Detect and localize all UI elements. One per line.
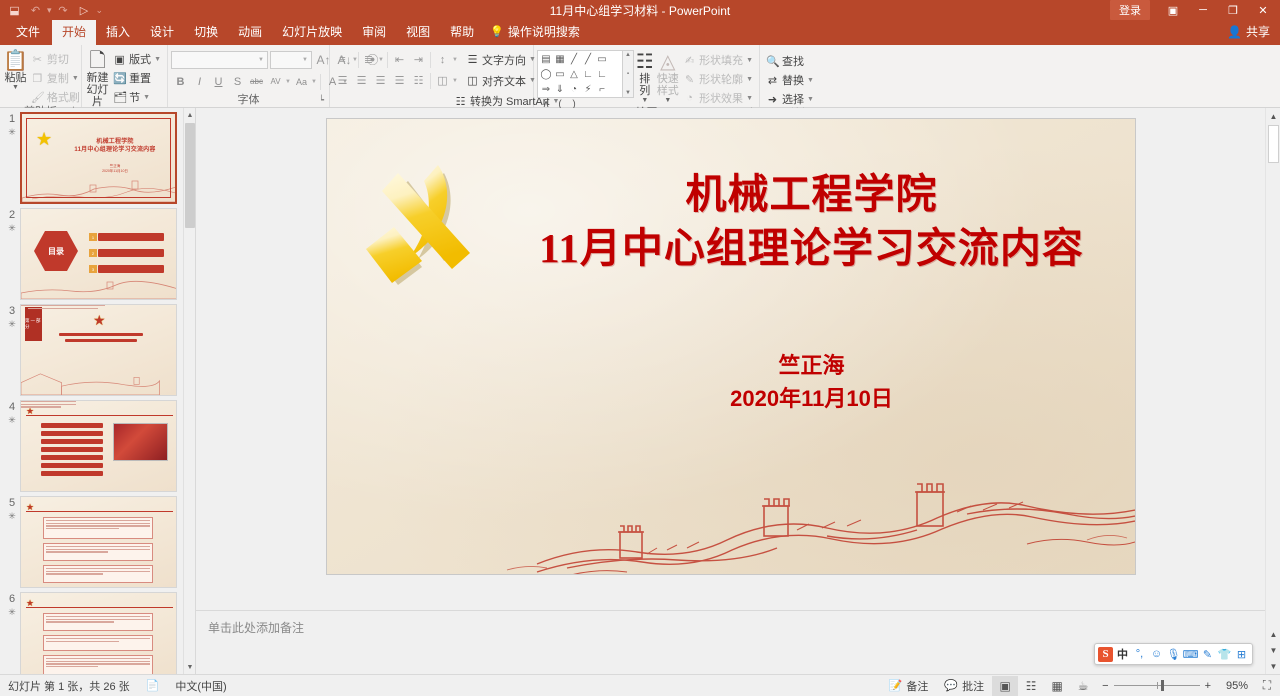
section-sub-line-1	[21, 305, 105, 306]
text-direction-label: 文字方向	[482, 52, 526, 68]
thumbnail-index-2: 2 ✳	[4, 208, 20, 300]
thumbnail-number-6: 6	[4, 593, 20, 606]
great-wall-art-icon	[22, 172, 177, 202]
minimize-icon[interactable]: ─	[1188, 0, 1218, 20]
cut-button[interactable]: ✂ 剪切	[28, 50, 83, 68]
numbering-icon[interactable]: ≣	[359, 50, 378, 69]
text-box-1	[43, 613, 153, 631]
font-size-input[interactable]: ▼	[270, 51, 312, 69]
thumbnail-title-1: 机械工程学院 11月中心组理论学习交流内容	[56, 138, 174, 154]
thumbnail-row-6[interactable]: 6 ✳ ★	[0, 588, 195, 674]
thumbnail-number-1: 1	[4, 113, 20, 126]
bold-icon[interactable]: B	[171, 72, 190, 91]
text-box-3	[43, 565, 153, 583]
align-left-icon[interactable]: ☰	[333, 71, 352, 90]
paste-label: 粘贴	[4, 72, 26, 84]
document-title: 11月中心组学习材料 - PowerPoint	[0, 2, 1280, 19]
sogou-ime-toolbar[interactable]: S 中 °, ☺ 🎙 ⌨ ✎ 👕 ⊞	[1094, 643, 1253, 665]
shape-fill-caret-icon[interactable]: ▼	[746, 57, 753, 64]
cut-label: 剪切	[47, 51, 69, 67]
font-group-label: 字体 ┕	[171, 94, 326, 107]
zoom-value[interactable]: 95%	[1216, 680, 1248, 692]
undo-icon[interactable]: ↶	[26, 1, 45, 19]
caption-line-3	[21, 406, 61, 407]
columns-caret-icon[interactable]: ▼	[452, 78, 459, 84]
toc-bar-2	[98, 249, 164, 257]
replace-button[interactable]: ⇄ 替换 ▼	[763, 71, 817, 89]
share-label: 共享	[1246, 23, 1270, 40]
tell-me-placeholder: 操作说明搜索	[508, 23, 580, 40]
select-label: 选择	[782, 91, 804, 107]
shape-curve-icon[interactable]: ⌐	[595, 82, 609, 97]
ribbon-group-drawing: ▤ ▦ ╱ ╱ ▭ ◯ ▭ △ ∟ ∟ ⇒ ⇓ ◔ ⚡ ⌐ ∧ (	[534, 45, 760, 107]
section-title-line-2	[65, 339, 137, 342]
thumbnail-animation-star-6: ✳	[4, 606, 20, 619]
party-emblem-icon: ★	[36, 132, 52, 146]
slide-thumbnail-3[interactable]: 第一部分 ★	[20, 304, 177, 396]
sogou-logo-icon[interactable]: S	[1098, 647, 1113, 662]
customize-qat-icon[interactable]: ⌄	[96, 5, 104, 16]
slide-title-textbox[interactable]: 机械工程学院 11月中心组理论学习交流内容	[502, 167, 1122, 275]
notes-placeholder[interactable]: 单击此处添加备注	[196, 611, 1265, 636]
thumbnail-animation-star-2: ✳	[4, 222, 20, 235]
great-wall-illustration	[327, 444, 1135, 574]
tab-slideshow[interactable]: 幻灯片放映	[272, 20, 352, 45]
zoom-slider[interactable]: − + 95%	[1096, 680, 1254, 692]
thumbnail-scrollbar[interactable]: ▲ ▼	[183, 108, 195, 674]
slide-thumbnail-5[interactable]: ★	[20, 496, 177, 588]
party-emblem-icon: ★	[93, 313, 106, 327]
thumbnail-row-4[interactable]: 4 ✳ ★	[0, 396, 195, 492]
comments-label: 批注	[962, 678, 984, 694]
zoom-out-button[interactable]: −	[1102, 680, 1108, 692]
zoom-handle[interactable]	[1161, 680, 1164, 691]
text-shadow-icon[interactable]: S	[228, 72, 247, 91]
section-title-line-1	[59, 333, 143, 336]
reset-button[interactable]: 🔄 重置	[110, 69, 164, 87]
toc-number-2: 2	[89, 249, 97, 257]
reset-label: 重置	[129, 70, 151, 86]
list-item-2	[41, 431, 103, 436]
fit-slide-icon[interactable]: ⛶	[1254, 676, 1280, 696]
tab-design[interactable]: 设计	[140, 20, 184, 45]
arrange-icon: ☷	[636, 51, 654, 73]
slide-thumbnail-6[interactable]: ★	[20, 592, 177, 674]
thumbnail-index-5: 5 ✳	[4, 496, 20, 588]
copy-label: 复制	[47, 70, 69, 86]
align-center-icon[interactable]: ☰	[352, 71, 371, 90]
window-controls: 登录 ▣ ─ ❐ ✕	[1110, 0, 1280, 20]
ribbon-display-options-icon[interactable]: ▣	[1158, 0, 1188, 20]
share-button[interactable]: 👤 共享	[1227, 20, 1280, 45]
copy-icon: ❐	[31, 72, 44, 85]
section-label: 节	[129, 89, 140, 105]
tab-help[interactable]: 帮助	[440, 20, 484, 45]
zoom-in-button[interactable]: +	[1205, 680, 1211, 692]
toc-number-1: 1	[89, 233, 97, 241]
arrange-label: 排列	[634, 73, 656, 97]
underline-icon[interactable]: U	[209, 72, 228, 91]
status-bar: 幻灯片 第 1 张，共 26 张 📄 中文(中国) 📝 备注 💬 批注 ▣ ☷ …	[0, 674, 1280, 696]
quick-access-toolbar: ⬓ ↶ ▾ ↷ ▷ ⌄	[0, 1, 103, 19]
format-painter-icon: 🖌	[31, 91, 44, 104]
text-box-2	[43, 543, 153, 561]
slide-author[interactable]: 竺正海	[502, 351, 1122, 381]
thumbnail-number-3: 3	[4, 305, 20, 318]
tab-file[interactable]: 文件	[4, 20, 52, 45]
format-painter-label: 格式刷	[47, 89, 80, 105]
language-text: 中文(中国)	[175, 678, 226, 694]
shape-fill-label: 形状填充	[699, 52, 743, 68]
slide-count-indicator[interactable]: 幻灯片 第 1 张，共 26 张	[0, 678, 138, 694]
ime-toolbox-icon[interactable]: ⊞	[1234, 646, 1249, 662]
paste-icon: 📋	[3, 50, 28, 72]
new-slide-label-1: 新建	[87, 72, 109, 84]
layout-icon: ▣	[113, 53, 126, 66]
great-wall-art-icon	[21, 269, 177, 299]
list-item-1	[41, 423, 103, 428]
change-case-icon[interactable]: Aa	[292, 72, 311, 91]
arrange-caret-icon[interactable]: ▼	[641, 97, 648, 104]
bullets-caret-icon[interactable]: ▼	[352, 57, 359, 63]
comment-icon: 💬	[944, 679, 958, 692]
shape-fill-icon: ✍	[683, 54, 696, 67]
shape-effects-caret-icon[interactable]: ▼	[746, 95, 753, 102]
thumbnail-scroll-up-icon[interactable]: ▲	[184, 108, 196, 122]
italic-icon[interactable]: I	[190, 72, 209, 91]
person-share-icon: 👤	[1227, 25, 1242, 39]
tab-review[interactable]: 审阅	[352, 20, 396, 45]
thumbnail-animation-star-5: ✳	[4, 510, 20, 523]
paste-dropdown-caret-icon[interactable]: ▼	[12, 84, 19, 91]
line-spacing-icon[interactable]: ↕	[433, 50, 452, 69]
list-item-3	[41, 439, 103, 444]
scroll-down-icon[interactable]: ▼	[1266, 658, 1280, 674]
thumbnail-animation-star-1: ✳	[4, 126, 20, 139]
slide-canvas[interactable]: 机械工程学院 11月中心组理论学习交流内容 竺正海 2020年11月10日	[327, 119, 1135, 574]
shape-outline-button[interactable]: ✎ 形状轮廓 ▼	[680, 70, 756, 88]
select-icon: ➜	[766, 93, 779, 106]
thumbnail-scroll-thumb[interactable]	[185, 123, 195, 228]
ribbon: 📋 粘贴 ▼ ✂ 剪切 ❐ 复制 ▼ 🖌 格式刷	[0, 45, 1280, 108]
thumbnail-animation-star-4: ✳	[4, 414, 20, 427]
thumbnail-animation-star-3: ✳	[4, 318, 20, 331]
font-dialog-launcher-icon[interactable]: ┕	[319, 94, 324, 107]
font-group-text: 字体	[238, 94, 260, 106]
shapes-more-icon[interactable]: ▼	[625, 90, 631, 96]
shape-effects-button[interactable]: ◔ 形状效果 ▼	[680, 89, 756, 107]
thumbnail-row-5[interactable]: 5 ✳ ★	[0, 492, 195, 588]
layout-button[interactable]: ▣ 版式 ▼	[110, 50, 164, 68]
justify-icon[interactable]: ☰	[390, 71, 409, 90]
lightbulb-icon: 💡	[490, 25, 504, 38]
distribute-icon[interactable]: ☷	[409, 71, 428, 90]
quick-styles-button[interactable]: ◬ 快速样式 ▼	[656, 50, 681, 105]
ime-soft-keyboard-icon[interactable]: ⌨	[1183, 646, 1198, 662]
shape-effects-icon: ◔	[683, 92, 696, 104]
scroll-up-icon[interactable]: ▲	[1266, 108, 1280, 124]
thumbnail-row-2[interactable]: 2 ✳ 目录 1 2 3	[0, 204, 195, 300]
arrange-button[interactable]: ☷ 排列 ▼	[634, 50, 656, 105]
increase-indent-icon[interactable]: ⇥	[409, 50, 428, 69]
paste-button[interactable]: 📋 粘贴 ▼	[3, 49, 28, 92]
align-right-icon[interactable]: ☰	[371, 71, 390, 90]
zoom-midpoint-tick	[1157, 682, 1158, 689]
slide-sorter-button[interactable]: ☷	[1018, 676, 1044, 696]
ribbon-group-editing: 🔍 查找 ⇄ 替换 ▼ ➜ 选择 ▼ 编辑	[760, 45, 842, 107]
start-slideshow-icon[interactable]: ▷	[75, 1, 94, 19]
thumbnail-index-4: 4 ✳	[4, 400, 20, 492]
line-spacing-caret-icon[interactable]: ▼	[452, 57, 459, 63]
find-button[interactable]: 🔍 查找	[763, 52, 817, 70]
text-box-3	[43, 655, 153, 674]
select-button[interactable]: ➜ 选择 ▼	[763, 90, 817, 108]
replace-icon: ⇄	[766, 74, 779, 87]
party-emblem-hammer-sickle-icon	[352, 157, 492, 297]
ribbon-group-font: ▼ ▼ A↑ A↓ ⦿ B I U S abc AV ▼ Aa ▼	[168, 45, 330, 107]
align-text-label: 对齐文本	[482, 73, 526, 89]
ime-handwriting-icon[interactable]: ✎	[1200, 646, 1215, 662]
slide-title-line-2: 11月中心组理论学习交流内容	[502, 221, 1122, 275]
header-rule	[26, 607, 173, 608]
shape-line-icon[interactable]: ╱	[567, 52, 581, 67]
notes-icon: 📝	[889, 679, 903, 692]
slide-edit-pane: 机械工程学院 11月中心组理论学习交流内容 竺正海 2020年11月10日	[196, 108, 1265, 674]
search-icon: 🔍	[766, 55, 779, 68]
shape-effects-label: 形状效果	[699, 90, 743, 106]
section-button[interactable]: 🗂 节 ▼	[110, 88, 164, 106]
new-slide-icon: 🗋	[89, 50, 105, 72]
slide-title-line-1: 机械工程学院	[502, 167, 1122, 221]
slide-thumbnail-pane[interactable]: 1 ✳ ★ 机械工程学院 11月中心组理论学习交流内容 竺正海 2020年11月…	[0, 108, 196, 674]
copy-button[interactable]: ❐ 复制 ▼	[28, 69, 83, 87]
scroll-bottom-controls: ▲ ▼ ▼	[1266, 626, 1280, 674]
language-indicator[interactable]: 中文(中国)	[167, 678, 234, 694]
shape-oval-icon[interactable]: ◯	[539, 67, 553, 82]
tab-view[interactable]: 视图	[396, 20, 440, 45]
zoom-track[interactable]	[1114, 685, 1200, 686]
normal-view-button[interactable]: ▣	[992, 676, 1018, 696]
shape-right-arrow-icon[interactable]: ⇒	[539, 82, 553, 97]
layout-caret-icon[interactable]: ▼	[154, 56, 161, 63]
shape-textbox-icon[interactable]: ▤	[539, 52, 553, 67]
ribbon-tab-bar: 文件 开始 插入 设计 切换 动画 幻灯片放映 审阅 视图 帮助 💡 操作说明搜…	[0, 20, 1280, 45]
change-case-caret-icon[interactable]: ▼	[311, 79, 318, 85]
thumbnail-number-2: 2	[4, 209, 20, 222]
tab-home[interactable]: 开始	[52, 20, 96, 45]
shapes-scroll-up-icon[interactable]: ▲	[625, 52, 631, 58]
reset-icon: 🔄	[113, 72, 126, 85]
text-box-2	[43, 635, 153, 651]
ime-punctuation-icon[interactable]: °,	[1132, 646, 1147, 662]
align-text-button[interactable]: ◫ 对齐文本 ▼	[463, 72, 539, 90]
caption-line-1	[21, 401, 76, 402]
scissors-icon: ✂	[31, 53, 44, 66]
layout-label: 版式	[129, 51, 151, 67]
select-caret-icon[interactable]: ▼	[807, 96, 814, 103]
align-text-icon: ◫	[466, 74, 479, 87]
undo-dropdown-caret-icon[interactable]: ▾	[47, 5, 52, 16]
slide-thumbnail-1[interactable]: ★ 机械工程学院 11月中心组理论学习交流内容 竺正海 2020年11月10日	[20, 112, 177, 204]
slide-thumbnail-4[interactable]: ★	[20, 400, 177, 492]
shape-rounded-rect-icon[interactable]: ▭	[553, 67, 567, 82]
previous-slide-icon[interactable]: ▲	[1266, 626, 1280, 642]
text-direction-button[interactable]: ☰ 文字方向 ▼	[463, 51, 539, 69]
caption-line-2	[21, 404, 76, 405]
tell-me-search[interactable]: 💡 操作说明搜索	[484, 19, 588, 45]
shape-triangle-icon[interactable]: △	[567, 67, 581, 82]
thumbnail-scroll-down-icon[interactable]: ▼	[184, 660, 196, 674]
notes-button[interactable]: 📝 备注	[881, 678, 937, 694]
status-bar-right: 📝 备注 💬 批注 ▣ ☷ ▦ ☕ − + 95% ⛶	[881, 676, 1280, 696]
ime-emoji-icon[interactable]: ☺	[1149, 646, 1164, 662]
numbering-caret-icon[interactable]: ▼	[378, 57, 385, 63]
slide-thumbnail-2[interactable]: 目录 1 2 3	[20, 208, 177, 300]
proofing-icon[interactable]: 📄	[138, 679, 168, 692]
ime-voice-input-icon[interactable]: 🎙	[1166, 646, 1181, 662]
thumbnail-row-3[interactable]: 3 ✳ 第一部分 ★	[0, 300, 195, 396]
font-name-input[interactable]: ▼	[171, 51, 268, 69]
section-sub-line-2	[28, 308, 98, 309]
slide-count-text: 幻灯片 第 1 张，共 26 张	[8, 678, 130, 694]
slideshow-button[interactable]: ☕	[1070, 676, 1096, 696]
notes-label: 备注	[906, 678, 928, 694]
work-area: 1 ✳ ★ 机械工程学院 11月中心组理论学习交流内容 竺正海 2020年11月…	[0, 108, 1280, 674]
toc-bar-1	[98, 233, 164, 241]
shape-fill-button[interactable]: ✍ 形状填充 ▼	[680, 51, 756, 69]
tab-transitions[interactable]: 切换	[184, 20, 228, 45]
shape-elbow-icon[interactable]: ∟	[581, 67, 595, 82]
shape-recent-icon[interactable]: ▦	[553, 52, 567, 67]
shape-lightning-icon[interactable]: ⚡	[581, 82, 595, 97]
redo-icon[interactable]: ↷	[54, 1, 73, 19]
great-wall-art-icon	[21, 365, 160, 395]
section-icon: 🗂	[113, 91, 126, 104]
shapes-scroll-dot-icon[interactable]: ▪	[627, 71, 629, 77]
list-item-5	[41, 455, 103, 460]
shape-pie-icon[interactable]: ◔	[567, 82, 581, 97]
quick-styles-icon: ◬	[660, 51, 675, 73]
scroll-thumb[interactable]	[1268, 125, 1279, 163]
thumbnail-number-5: 5	[4, 497, 20, 510]
format-painter-button[interactable]: 🖌 格式刷	[28, 88, 83, 106]
shape-elbow2-icon[interactable]: ∟	[595, 67, 609, 82]
slide-vertical-scrollbar[interactable]: ▲ ▲ ▼ ▼	[1265, 108, 1280, 674]
sign-in-button[interactable]: 登录	[1110, 0, 1150, 20]
list-item-4	[41, 447, 103, 452]
close-icon[interactable]: ✕	[1248, 0, 1278, 20]
character-spacing-caret-icon[interactable]: ▼	[285, 79, 292, 85]
replace-label: 替换	[782, 72, 804, 88]
maximize-icon[interactable]: ❐	[1218, 0, 1248, 20]
list-item-6	[41, 463, 103, 468]
shapes-gallery-scroll[interactable]: ▲ ▪ ▼	[623, 50, 634, 98]
thumbnail-number-4: 4	[4, 401, 20, 414]
list-item-7	[41, 471, 103, 476]
title-bar: ⬓ ↶ ▾ ↷ ▷ ⌄ 11月中心组学习材料 - PowerPoint 登录 ▣…	[0, 0, 1280, 20]
columns-icon[interactable]: ◫	[433, 71, 452, 90]
ribbon-group-paragraph: ≡ ▼ ≣ ▼ ⇤ ⇥ ↕ ▼ ☰ 文字方向 ▼ ☰ ☰ ☰ ☰	[330, 45, 534, 107]
comments-button[interactable]: 💬 批注	[936, 678, 992, 694]
text-direction-icon: ☰	[466, 53, 479, 66]
header-rule	[26, 415, 173, 416]
decrease-indent-icon[interactable]: ⇤	[390, 50, 409, 69]
quick-styles-caret-icon[interactable]: ▼	[664, 97, 671, 104]
bullets-icon[interactable]: ≡	[333, 50, 352, 69]
find-label: 查找	[782, 53, 804, 69]
thumbnail-row-1[interactable]: 1 ✳ ★ 机械工程学院 11月中心组理论学习交流内容 竺正海 2020年11月…	[0, 108, 195, 204]
strikethrough-icon[interactable]: abc	[247, 72, 266, 91]
shape-outline-label: 形状轮廓	[699, 71, 743, 87]
character-spacing-icon[interactable]: AV	[266, 72, 285, 91]
leader-photo	[113, 423, 168, 461]
ribbon-group-slides: 🗋 新建 幻灯片 ▣ 版式 ▼ 🔄 重置 🗂 节 ▼	[82, 45, 168, 107]
ime-skin-icon[interactable]: 👕	[1217, 646, 1232, 662]
header-rule	[26, 511, 173, 512]
save-icon[interactable]: ⬓	[5, 1, 24, 19]
text-box-1	[43, 517, 153, 539]
shape-down-arrow-icon[interactable]: ⇓	[553, 82, 567, 97]
tab-insert[interactable]: 插入	[96, 20, 140, 45]
shape-outline-icon: ✎	[683, 73, 696, 86]
quick-styles-label: 快速样式	[656, 73, 681, 97]
new-slide-label-2: 幻灯片	[85, 84, 110, 108]
slide-date[interactable]: 2020年11月10日	[502, 384, 1122, 414]
shape-arrow-icon[interactable]: ╱	[581, 52, 595, 67]
section-caret-icon[interactable]: ▼	[143, 94, 150, 101]
replace-caret-icon[interactable]: ▼	[807, 77, 814, 84]
shapes-gallery[interactable]: ▤ ▦ ╱ ╱ ▭ ◯ ▭ △ ∟ ∟ ⇒ ⇓ ◔ ⚡ ⌐ ∧ (	[537, 50, 623, 98]
copy-caret-icon[interactable]: ▼	[72, 75, 79, 82]
new-slide-button[interactable]: 🗋 新建 幻灯片	[85, 49, 110, 109]
thumbnail-index-6: 6 ✳	[4, 592, 20, 674]
shape-rectangle-icon[interactable]: ▭	[595, 52, 609, 67]
reading-view-button[interactable]: ▦	[1044, 676, 1070, 696]
next-slide-icon[interactable]: ▼	[1266, 642, 1280, 658]
thumbnail-index-1: 1 ✳	[4, 112, 20, 204]
ime-chinese-mode-icon[interactable]: 中	[1115, 646, 1130, 662]
ribbon-group-clipboard: 📋 粘贴 ▼ ✂ 剪切 ❐ 复制 ▼ 🖌 格式刷	[0, 45, 82, 107]
thumbnail-index-3: 3 ✳	[4, 304, 20, 396]
shape-outline-caret-icon[interactable]: ▼	[746, 76, 753, 83]
tab-animations[interactable]: 动画	[228, 20, 272, 45]
smartart-icon: ☷	[454, 95, 467, 108]
